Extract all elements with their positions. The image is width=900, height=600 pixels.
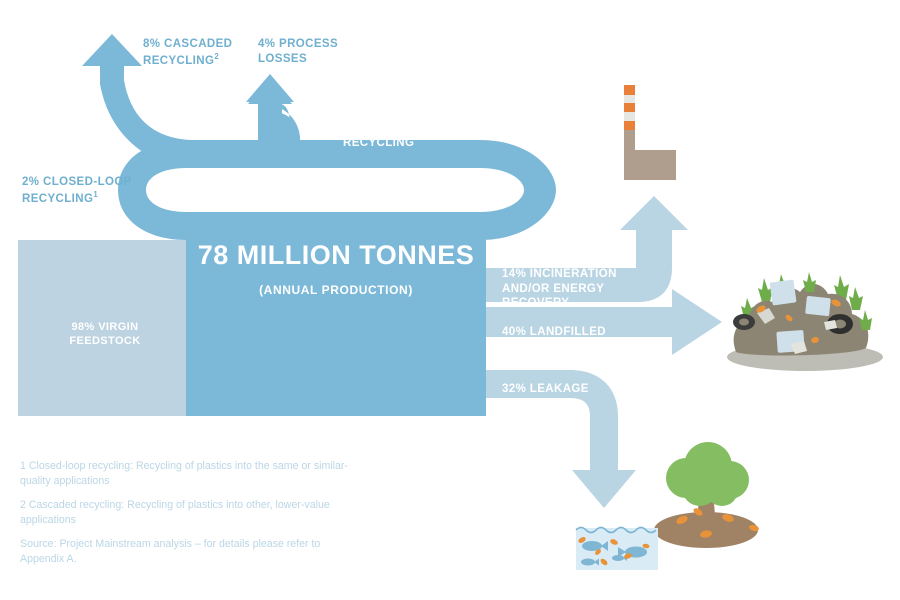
footnote-2: 2 Cascaded recycling: Recycling of plast… <box>20 498 350 528</box>
production-center-label: 78 MILLION TONNES (ANNUAL PRODUCTION) <box>186 240 486 297</box>
label-leakage: 32% LEAKAGE <box>502 382 652 397</box>
footnote-1: 1 Closed-loop recycling: Recycling of pl… <box>20 459 350 489</box>
process-losses-arrow <box>246 74 300 142</box>
production-subline: (ANNUAL PRODUCTION) <box>186 283 486 297</box>
label-process-losses: 4% PROCESS LOSSES <box>258 37 353 66</box>
label-closed-loop-recycling: 2% CLOSED-LOOP RECYCLING1 <box>22 175 157 206</box>
infographic-canvas: 8% CASCADED RECYCLING2 4% PROCESS LOSSES… <box>0 0 900 600</box>
water-fish-icon <box>576 528 658 571</box>
label-collected-for-recycling: 14% COLLECTED FOR RECYCLING <box>343 121 493 150</box>
tree-icon <box>666 442 749 506</box>
footnote-marker-2: 2 <box>214 52 219 61</box>
footnote-marker-1: 1 <box>93 190 98 199</box>
label-incineration: 14% INCINERATION AND/OR ENERGY RECOVERY <box>502 267 664 311</box>
landfill-icon <box>727 272 883 371</box>
label-landfilled: 40% LANDFILLED <box>502 325 652 340</box>
footnote-source: Source: Project Mainstream analysis – fo… <box>20 537 350 567</box>
footnotes: 1 Closed-loop recycling: Recycling of pl… <box>20 459 350 576</box>
factory-icon <box>624 85 676 180</box>
production-headline: 78 MILLION TONNES <box>186 240 486 271</box>
label-virgin-feedstock: 98% VIRGIN FEEDSTOCK <box>40 320 170 348</box>
